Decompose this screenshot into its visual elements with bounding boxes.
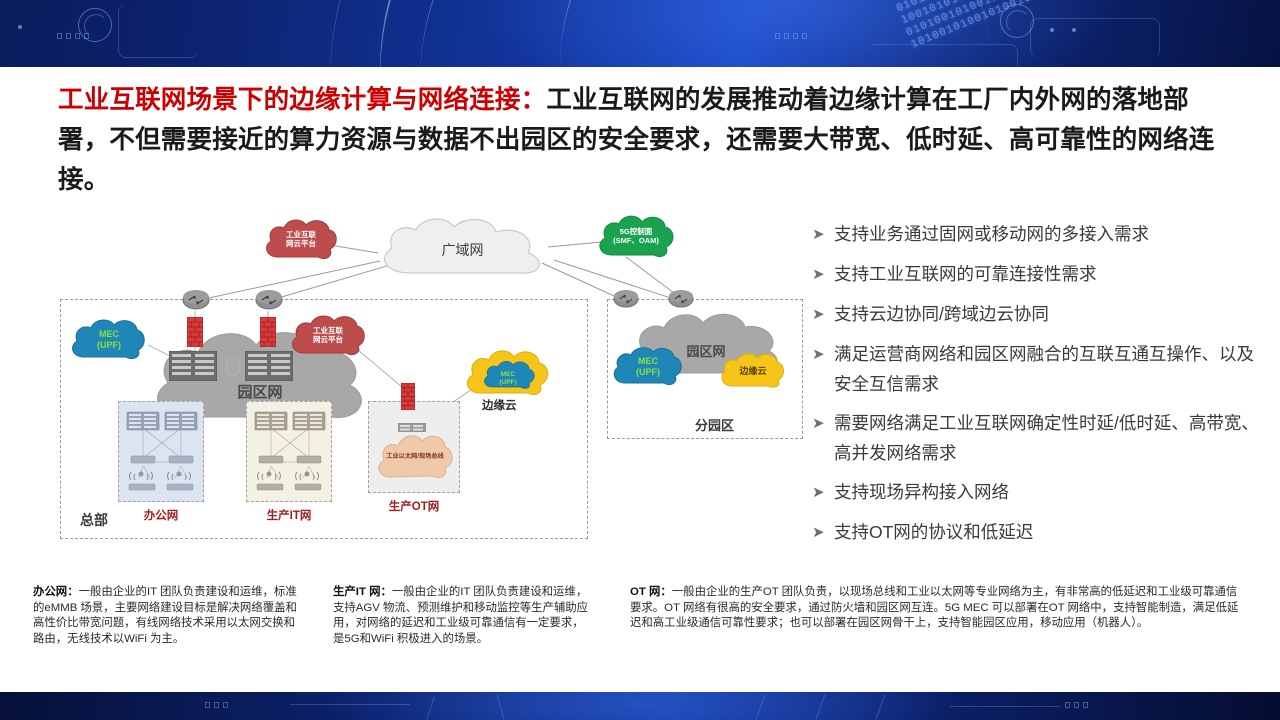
footer-accent-line-7	[950, 706, 1060, 707]
edge-cloud-hq-caption: 边缘云	[482, 397, 517, 413]
router-icon-sub-right	[668, 289, 694, 314]
footer-accent-line-6	[290, 704, 410, 705]
bullet-item: ➤ 满足运营商网络和园区网融合的互联互通互操作、以及安全互信需求	[812, 339, 1262, 399]
bullet-label: 支持云边协同/跨域边云协同	[834, 299, 1049, 329]
arrow-bullet-icon: ➤	[812, 408, 834, 439]
header-ring-icon-right	[1000, 4, 1034, 38]
requirements-bullet-list: ➤ 支持业务通过固网或移动网的多接入需求 ➤ 支持工业互联网的可靠连接性需求 ➤…	[812, 219, 1262, 557]
header-circuit-path-1	[118, 4, 198, 58]
bullet-item: ➤ 支持业务通过固网或移动网的多接入需求	[812, 219, 1262, 250]
header-square-3	[75, 33, 80, 39]
bottom-notes-section: 办公网：一般由企业的IT 团队负责建设和运维，标准的eMMB 场景，主要网络建设…	[0, 575, 1280, 680]
header-node-dot-3	[1072, 28, 1076, 32]
slide-title: 工业互联网场景下的边缘计算与网络连接：工业互联网的发展推动着边缘计算在工厂内外网…	[58, 80, 1233, 200]
cloud-iiot-platform-top: 工业互联 网云平台	[262, 217, 340, 263]
header-square-8	[802, 33, 807, 39]
footer-square-1	[205, 702, 210, 708]
footer-accent-line-3	[756, 695, 766, 720]
office-network-label: 办公网	[118, 507, 204, 523]
header-circuit-path-2	[1030, 18, 1160, 58]
ot-switch-icon	[398, 419, 426, 437]
firewall-icon-ot	[401, 383, 415, 415]
bullet-label: 支持工业互联网的可靠连接性需求	[834, 259, 1097, 289]
footer-square-5	[1074, 702, 1079, 708]
network-topology-diagram: 总部 分园区 广域网 工业互联 网云平台 5G控制面	[30, 205, 810, 560]
footer-decorative-band	[0, 692, 1280, 720]
production-it-network-box	[246, 401, 332, 502]
core-switch-icon-hq-left	[169, 351, 217, 386]
bullet-item: ➤ 支持工业互联网的可靠连接性需求	[812, 259, 1262, 290]
arrow-bullet-icon: ➤	[812, 477, 834, 508]
router-icon-hq-right	[255, 289, 283, 316]
header-node-dot-1	[18, 25, 22, 29]
note-office-heading: 办公网	[33, 586, 67, 598]
footer-square-4	[1065, 702, 1070, 708]
bullet-item: ➤ 支持云边协同/跨域边云协同	[812, 299, 1262, 330]
bullet-label: 支持现场异构接入网络	[834, 477, 1009, 507]
arrow-bullet-icon: ➤	[812, 259, 834, 290]
hq-area-label: 总部	[80, 510, 108, 530]
header-node-dot-2	[1050, 28, 1054, 32]
note-prod-it-separator: ：	[380, 586, 391, 598]
header-square-6	[784, 33, 789, 39]
bullet-item: ➤ 支持现场异构接入网络	[812, 477, 1262, 508]
header-square-1	[57, 33, 62, 39]
core-link-ring	[226, 357, 240, 376]
header-square-2	[66, 33, 71, 39]
note-production-it-network: 生产IT 网：一般由企业的IT 团队负责建设和运维，支持AGV 物流、预测维护和…	[333, 585, 591, 647]
arrow-bullet-icon: ➤	[812, 219, 834, 250]
firewall-icon-hq-right	[260, 317, 276, 352]
arrow-bullet-icon: ➤	[812, 517, 834, 548]
header-circuit-path-3	[868, 44, 1018, 67]
cloud-mec-upf-sub: MEC (UPF)	[610, 345, 686, 389]
note-ot-network: OT 网：一般由企业的生产OT 团队负责，以现场总线和工业以太网等专业网络为主，…	[630, 585, 1240, 632]
cloud-edge-cloud-sub: 边缘云	[718, 351, 788, 391]
bullet-label: 需要网络满足工业互联网确定性时延/低时延、高带宽、高并发网络需求	[834, 408, 1262, 468]
footer-square-2	[214, 702, 219, 708]
note-prod-it-heading: 生产IT 网	[333, 586, 380, 598]
router-icon-hq-left	[182, 289, 210, 316]
footer-square-3	[223, 702, 228, 708]
bullet-item: ➤ 需要网络满足工业互联网确定性时延/低时延、高带宽、高并发网络需求	[812, 408, 1262, 468]
note-ot-separator: ：	[660, 586, 671, 598]
header-square-5	[775, 33, 780, 39]
firewall-icon-hq-left	[187, 317, 203, 352]
header-decorative-band: 10101001010010010010100101001001 0101001…	[0, 0, 1280, 67]
bullet-label: 支持业务通过固网或移动网的多接入需求	[834, 219, 1149, 249]
cloud-5g-control-plane: 5G控制面 (SMF、OAM)	[595, 213, 677, 261]
arrow-bullet-icon: ➤	[812, 299, 834, 330]
cloud-iiot-platform-hq: 工业互联 网云平台	[288, 313, 368, 359]
cloud-mec-upf-hq: MEC (UPF)	[68, 317, 150, 363]
footer-accent-line-4	[816, 695, 826, 720]
note-office-separator: ：	[67, 586, 78, 598]
router-icon-sub-left	[613, 289, 639, 314]
slide-root: 10101001010010010010100101001001 0101001…	[0, 0, 1280, 720]
footer-square-6	[1083, 702, 1088, 708]
footer-accent-line-1	[426, 696, 434, 719]
office-network-box	[118, 401, 204, 502]
slide-title-highlight: 工业互联网场景下的边缘计算与网络连接：	[58, 86, 546, 114]
bullet-label: 满足运营商网络和园区网融合的互联互通互操作、以及安全互信需求	[834, 339, 1262, 399]
note-ot-body: 一般由企业的生产OT 团队负责，以现场总线和工业以太网等专业网络为主，有非常高的…	[630, 586, 1238, 629]
footer-accent-line-5	[876, 695, 886, 720]
bullet-item: ➤ 支持OT网的协议和低延迟	[812, 517, 1262, 548]
footer-accent-line-2	[496, 694, 504, 719]
production-ot-network-label: 生产OT网	[368, 498, 460, 514]
header-square-4	[84, 33, 89, 39]
cloud-industrial-ethernet-fieldbus: 工业以太网/现场总线	[374, 431, 456, 483]
core-switch-icon-hq-right	[245, 351, 293, 386]
production-it-network-label: 生产IT网	[246, 507, 332, 523]
header-square-7	[793, 33, 798, 39]
note-office-network: 办公网：一般由企业的IT 团队负责建设和运维，标准的eMMB 场景，主要网络建设…	[33, 585, 305, 647]
arrow-bullet-icon: ➤	[812, 339, 834, 370]
cloud-edge-cloud-hq: MEC (UPF)	[462, 347, 554, 399]
note-ot-heading: OT 网	[630, 586, 660, 598]
bullet-label: 支持OT网的协议和低延迟	[834, 517, 1033, 547]
cloud-wan: 广域网	[370, 215, 555, 285]
sub-campus-area-label: 分园区	[695, 415, 734, 434]
